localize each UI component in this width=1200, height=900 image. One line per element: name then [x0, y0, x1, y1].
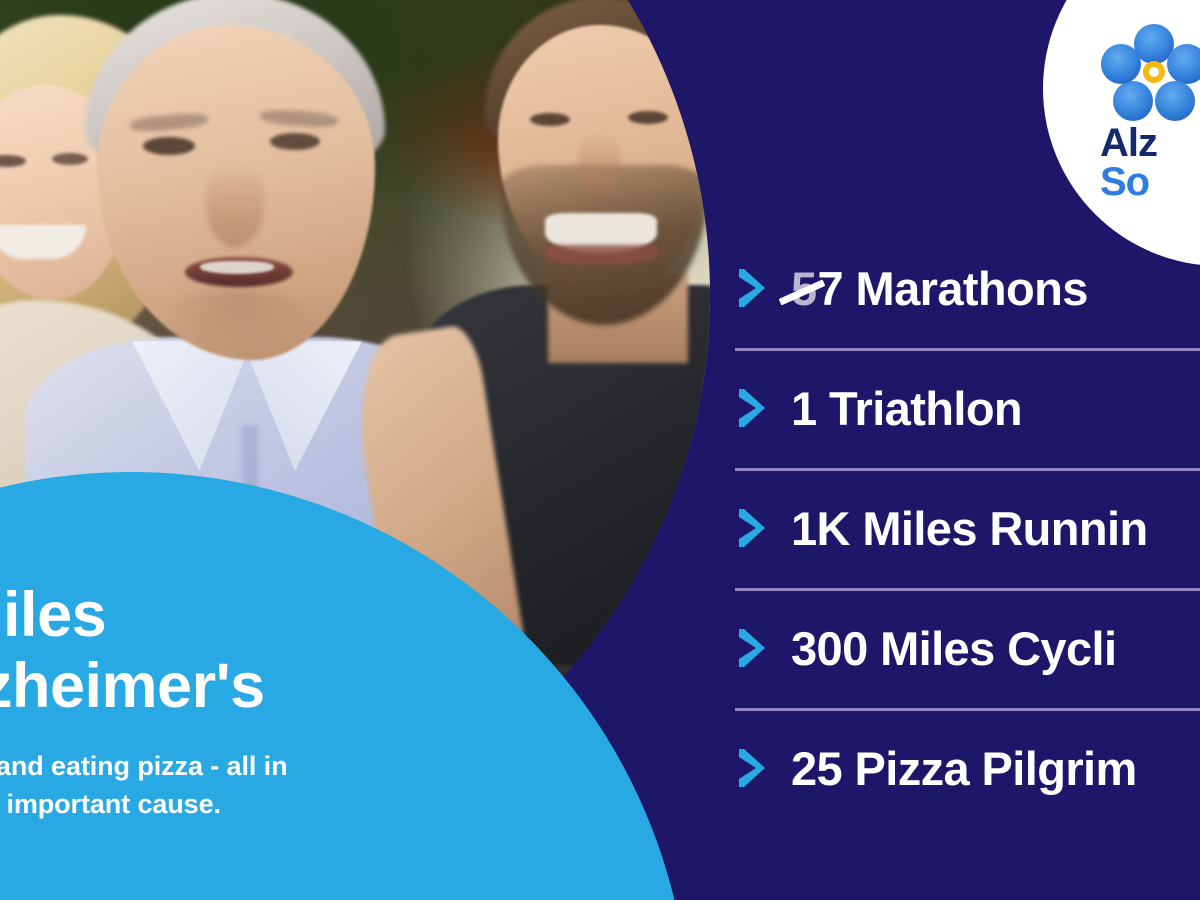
list-item[interactable]: 1K Miles Runnin: [735, 468, 1200, 588]
list-item-text: 25 Pizza Pilgrim: [791, 742, 1137, 795]
list-item[interactable]: 300 Miles Cycli: [735, 588, 1200, 708]
headline-line-1: 00 Miles: [0, 580, 106, 650]
logo-word-society: So: [1100, 163, 1200, 202]
list-item[interactable]: 25 Pizza Pilgrim: [735, 708, 1200, 828]
headline-line-2: Alzheimer's: [0, 651, 585, 722]
older-man-right-eye: [270, 133, 320, 150]
forget-me-not-flower-icon: [1100, 22, 1200, 122]
list-item-label: 25 Pizza Pilgrim: [791, 741, 1137, 796]
alzheimers-society-logo[interactable]: Alz So: [1100, 22, 1200, 202]
chevron-right-icon: [735, 266, 775, 310]
list-item-text: 1K Miles Runnin: [791, 502, 1148, 555]
woman-right-eye: [52, 153, 88, 165]
logo-wordmark: Alz So: [1100, 124, 1200, 202]
list-item-text: 1 Triathlon: [791, 382, 1022, 435]
headline-panel: 00 MilesAlzheimer's g, cycling and eatin…: [0, 580, 585, 824]
page-title: 00 MilesAlzheimer's: [0, 580, 585, 721]
younger-man-nose: [578, 133, 620, 195]
list-item-text: 7 Marathons: [818, 262, 1088, 315]
list-item-text: 300 Miles Cycli: [791, 622, 1116, 675]
chevron-right-icon: [735, 506, 775, 550]
logo-word-alzheimers: Alz: [1100, 124, 1200, 163]
older-man-left-eye: [143, 137, 195, 155]
list-item-label: 1K Miles Runnin: [791, 501, 1148, 556]
list-item-label: 1 Triathlon: [791, 381, 1022, 436]
list-item[interactable]: 1 Triathlon: [735, 348, 1200, 468]
younger-man-lower-lip: [545, 245, 657, 265]
struck-number: 5: [791, 261, 817, 316]
chevron-right-icon: [735, 746, 775, 790]
younger-man-left-eye: [530, 113, 570, 126]
chevron-right-icon: [735, 626, 775, 670]
list-item-label: 57 Marathons: [791, 261, 1088, 316]
older-man-teeth: [200, 261, 274, 274]
chevron-right-icon: [735, 386, 775, 430]
fundraising-graphic: 00 MilesAlzheimer's g, cycling and eatin…: [0, 0, 1200, 900]
younger-man-right-eye: [628, 111, 668, 124]
older-man-chin: [160, 291, 318, 357]
list-item[interactable]: 57 Marathons: [735, 228, 1200, 348]
achievements-list: 57 Marathons 1 Triathlon 1K Miles Runnin…: [735, 228, 1200, 828]
list-item-label: 300 Miles Cycli: [791, 621, 1116, 676]
headline-subtitle: g, cycling and eating pizza - all in me …: [0, 747, 585, 824]
older-man-nose: [206, 163, 264, 247]
